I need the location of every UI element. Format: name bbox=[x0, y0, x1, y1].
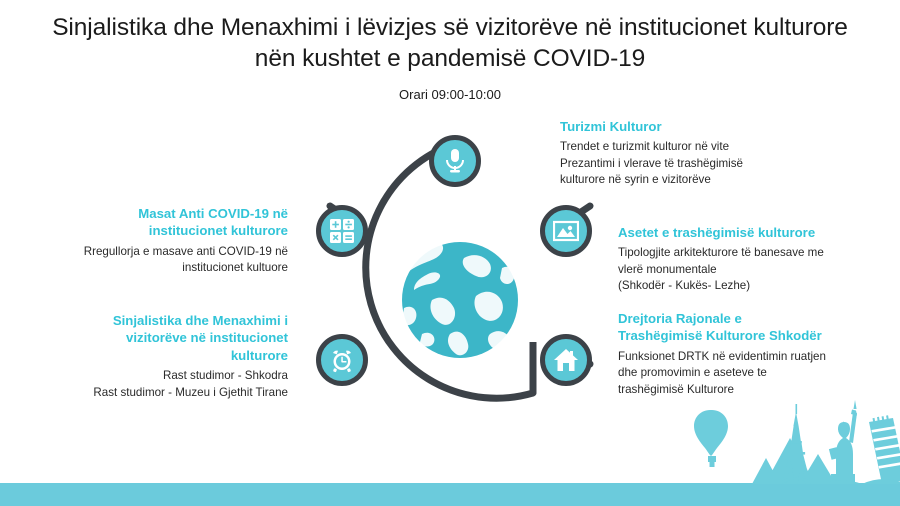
calculator-icon bbox=[329, 218, 355, 244]
leaning-tower-of-pisa-icon bbox=[862, 415, 900, 484]
home-icon bbox=[553, 348, 579, 372]
block-drejtoria: Drejtoria Rajonale eTrashëgimisë Kulturo… bbox=[618, 310, 888, 398]
block-drejtoria-body: Funksionet DRTK në evidentimin ruatjendh… bbox=[618, 349, 888, 398]
block-turizmi-kulturor: Turizmi Kulturor Trendet e turizmit kult… bbox=[560, 118, 850, 189]
block-sinjalistika: Sinjalistika dhe Menaxhimi ivizitorëve n… bbox=[50, 312, 288, 401]
ground-strip bbox=[0, 483, 900, 506]
block-masat: Masat Anti COVID-19 nëinstitucionet kult… bbox=[58, 205, 288, 277]
block-drejtoria-heading: Drejtoria Rajonale eTrashëgimisë Kulturo… bbox=[618, 310, 888, 345]
block-turizmi-body: Trendet e turizmit kulturor në vitePreza… bbox=[560, 139, 850, 188]
microphone-icon bbox=[444, 148, 466, 174]
hot-air-balloon-icon bbox=[694, 410, 728, 467]
node-home[interactable] bbox=[540, 334, 592, 386]
block-asetet-body: Tipologjite arkitekturore të banesave me… bbox=[618, 245, 896, 294]
slide-canvas: Sinjalistika dhe Menaxhimi i lëvizjes së… bbox=[0, 0, 900, 506]
node-calculator[interactable] bbox=[316, 205, 368, 257]
mountains-icon bbox=[752, 438, 836, 484]
block-masat-body: Rregullorja e masave anti COVID-19 nëins… bbox=[58, 244, 288, 277]
block-asetet-heading: Asetet e trashëgimisë kulturore bbox=[618, 224, 896, 241]
page-subtitle: Orari 09:00-10:00 bbox=[50, 87, 850, 102]
title-block: Sinjalistika dhe Menaxhimi i lëvizjes së… bbox=[50, 12, 850, 102]
node-microphone[interactable] bbox=[429, 135, 481, 187]
block-masat-heading: Masat Anti COVID-19 nëinstitucionet kult… bbox=[58, 205, 288, 240]
block-sinjalistika-heading: Sinjalistika dhe Menaxhimi ivizitorëve n… bbox=[50, 312, 288, 364]
block-asetet: Asetet e trashëgimisë kulturore Tipologj… bbox=[618, 224, 896, 295]
block-turizmi-heading: Turizmi Kulturor bbox=[560, 118, 850, 135]
node-image[interactable] bbox=[540, 205, 592, 257]
node-alarm-clock[interactable] bbox=[316, 334, 368, 386]
globe-icon bbox=[402, 241, 518, 358]
statue-of-liberty-icon bbox=[824, 400, 862, 484]
block-sinjalistika-body: Rast studimor - ShkodraRast studimor - M… bbox=[50, 368, 288, 401]
alarm-clock-icon bbox=[329, 347, 355, 373]
page-title: Sinjalistika dhe Menaxhimi i lëvizjes së… bbox=[50, 12, 850, 75]
eiffel-tower-icon bbox=[782, 404, 811, 484]
image-icon bbox=[553, 220, 579, 242]
